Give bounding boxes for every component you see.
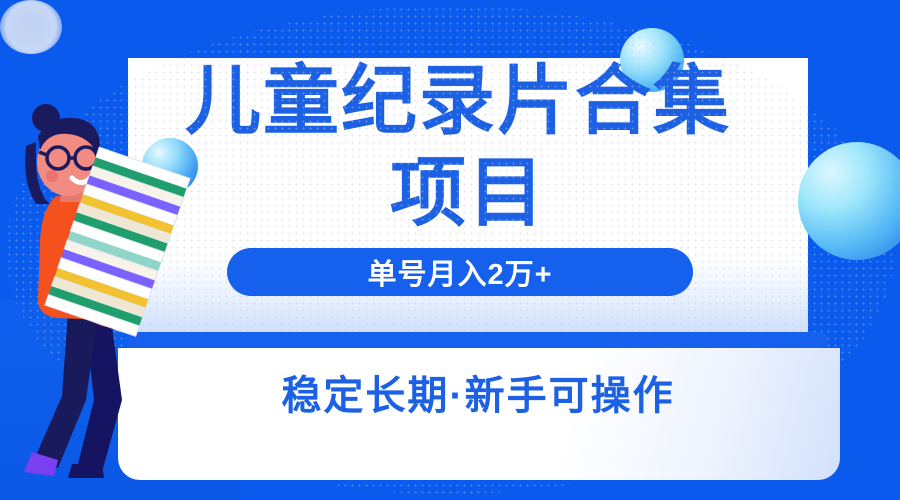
page-subtitle: 稳定长期·新手可操作	[128, 372, 828, 420]
woman-carrying-books-illustration	[6, 100, 216, 500]
highlight-badge: 单号月入2万+	[227, 248, 693, 296]
sphere-dotted-shadow-icon	[0, 0, 62, 54]
highlight-badge-label: 单号月入2万+	[367, 251, 552, 293]
poster-canvas: 儿童纪录片合集 项目 单号月入2万+ 稳定长期·新手可操作	[0, 0, 900, 500]
blue-divider-bar	[128, 332, 828, 348]
